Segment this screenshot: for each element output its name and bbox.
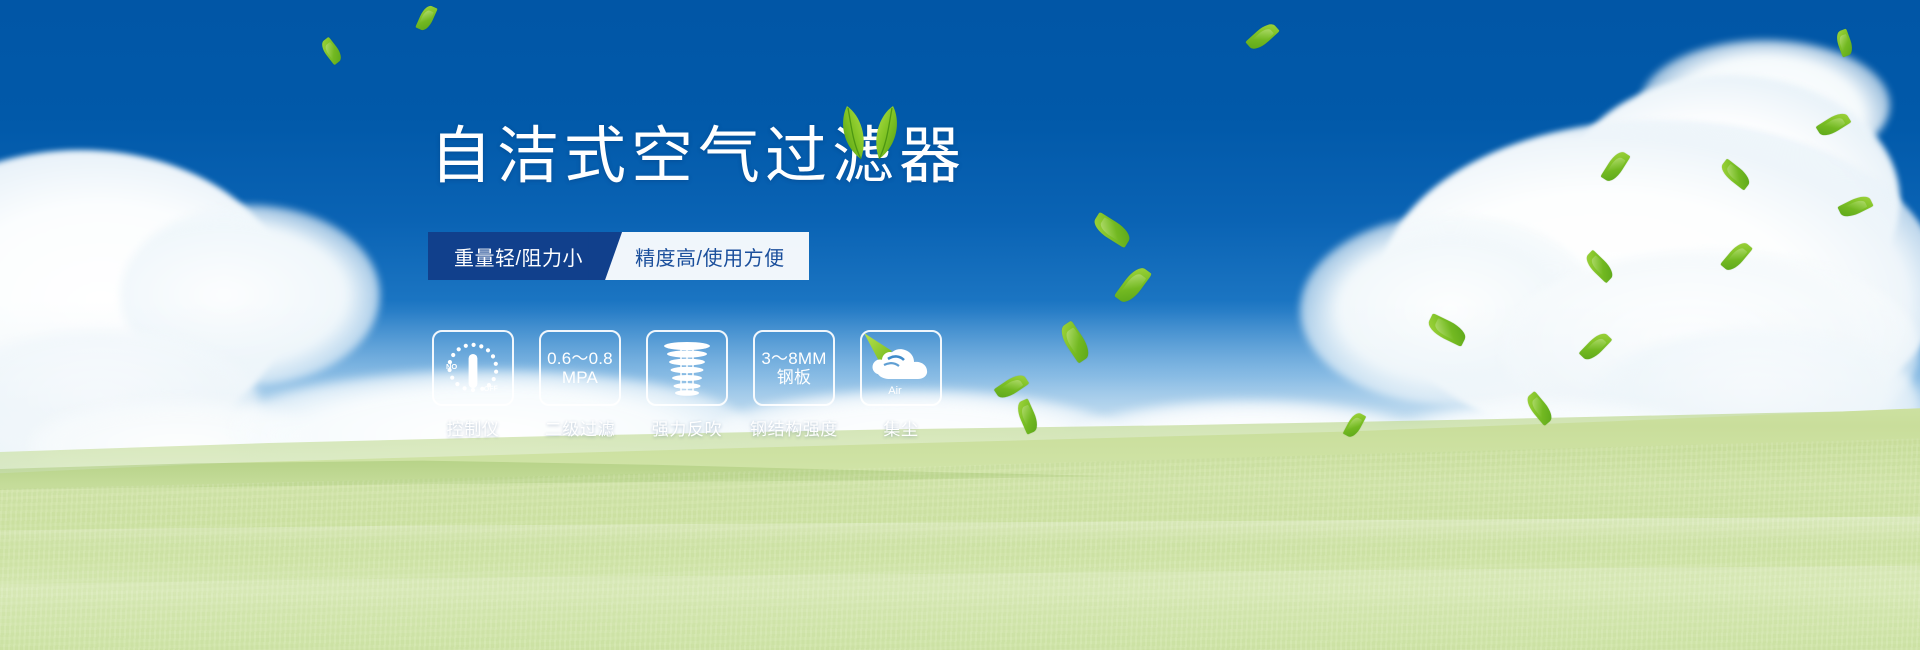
dial-on-label: NO (446, 362, 457, 371)
air-caption: Air (888, 385, 902, 397)
feature-icon-box: 0.6～0.8 MPA (539, 330, 621, 406)
feature-label: 控制仪 (447, 415, 500, 440)
feature-item-two-stage-filter: 0.6～0.8 MPA 二级过滤 (539, 330, 621, 440)
feature-icon-box: NO OFF (432, 330, 514, 406)
feature-text-line-1: 3～8MM (761, 349, 826, 368)
feature-label: 集尘 (883, 415, 918, 440)
feature-icon-box: 3～8MM 钢板 (753, 330, 835, 406)
dial-off-label: OFF (484, 385, 499, 393)
badge-label: 重量轻/阻力小 (454, 242, 583, 271)
badge-label: 精度高/使用方便 (635, 242, 785, 271)
hero-banner: 自洁式空气过滤器 (0, 0, 1920, 650)
badge-precision-convenience: 精度高/使用方便 (599, 232, 809, 280)
feature-list: NO OFF 控制仪 0.6～0.8 MPA 二级过滤 (432, 330, 942, 440)
badge-weight-resistance: 重量轻/阻力小 (428, 232, 605, 280)
feature-text-line-2: MPA (547, 368, 613, 387)
control-dial-icon: NO OFF (440, 337, 506, 399)
steel-plate-text-icon: 3～8MM 钢板 (761, 349, 826, 387)
banner-content: 自洁式空气过滤器 (0, 0, 1920, 650)
title-leaf-pair (835, 104, 905, 160)
feature-item-control-dial: NO OFF 控制仪 (432, 330, 514, 440)
badge-bar: 重量轻/阻力小 精度高/使用方便 (428, 232, 809, 280)
feature-item-back-blow: 强力反吹 (646, 330, 728, 440)
feature-label: 钢结构强度 (750, 415, 838, 440)
feature-text-line-1: 0.6～0.8 (547, 349, 613, 368)
pressure-text-icon: 0.6～0.8 MPA (547, 349, 613, 387)
feature-icon-box: Air (860, 330, 942, 406)
air-cloud-icon: Air (866, 337, 936, 399)
feature-text-line-2: 钢板 (761, 368, 826, 387)
feature-item-steel-strength: 3～8MM 钢板 钢结构强度 (753, 330, 835, 440)
feature-item-dust-collection: Air 集尘 (860, 330, 942, 440)
feature-icon-box (646, 330, 728, 406)
feature-label: 强力反吹 (652, 415, 722, 440)
feature-label: 二级过滤 (545, 415, 615, 440)
back-blow-coil-icon (658, 337, 716, 399)
